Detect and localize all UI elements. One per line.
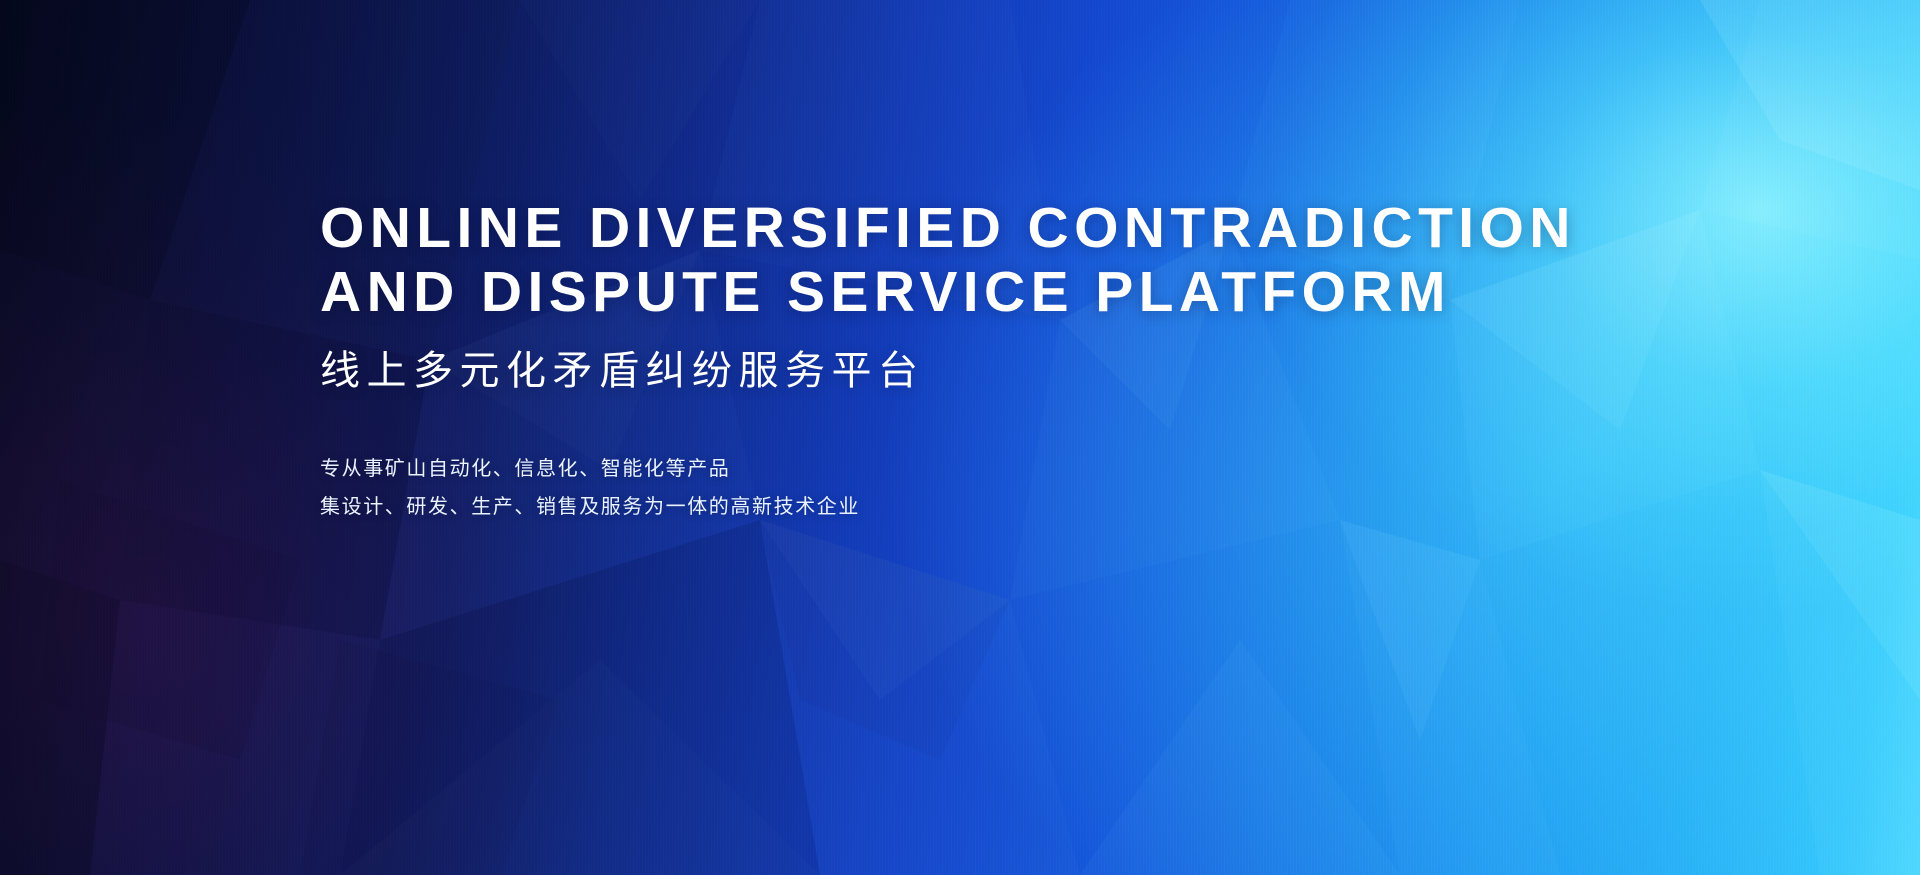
page-subtitle: 线上多元化矛盾纠纷服务平台 <box>320 346 1660 396</box>
hero-content: ONLINE DIVERSIFIED CONTRADICTION AND DIS… <box>320 196 1660 526</box>
hero-banner: ONLINE DIVERSIFIED CONTRADICTION AND DIS… <box>0 0 1920 875</box>
page-title-line-1: ONLINE DIVERSIFIED CONTRADICTION <box>320 196 1660 260</box>
page-title: ONLINE DIVERSIFIED CONTRADICTION AND DIS… <box>320 196 1660 324</box>
company-description: 专从事矿山自动化、信息化、智能化等产品 集设计、研发、生产、销售及服务为一体的高… <box>320 450 1660 526</box>
company-description-line-1: 专从事矿山自动化、信息化、智能化等产品 <box>320 450 1660 488</box>
company-description-line-2: 集设计、研发、生产、销售及服务为一体的高新技术企业 <box>320 488 1660 526</box>
page-title-line-2: AND DISPUTE SERVICE PLATFORM <box>320 260 1660 324</box>
